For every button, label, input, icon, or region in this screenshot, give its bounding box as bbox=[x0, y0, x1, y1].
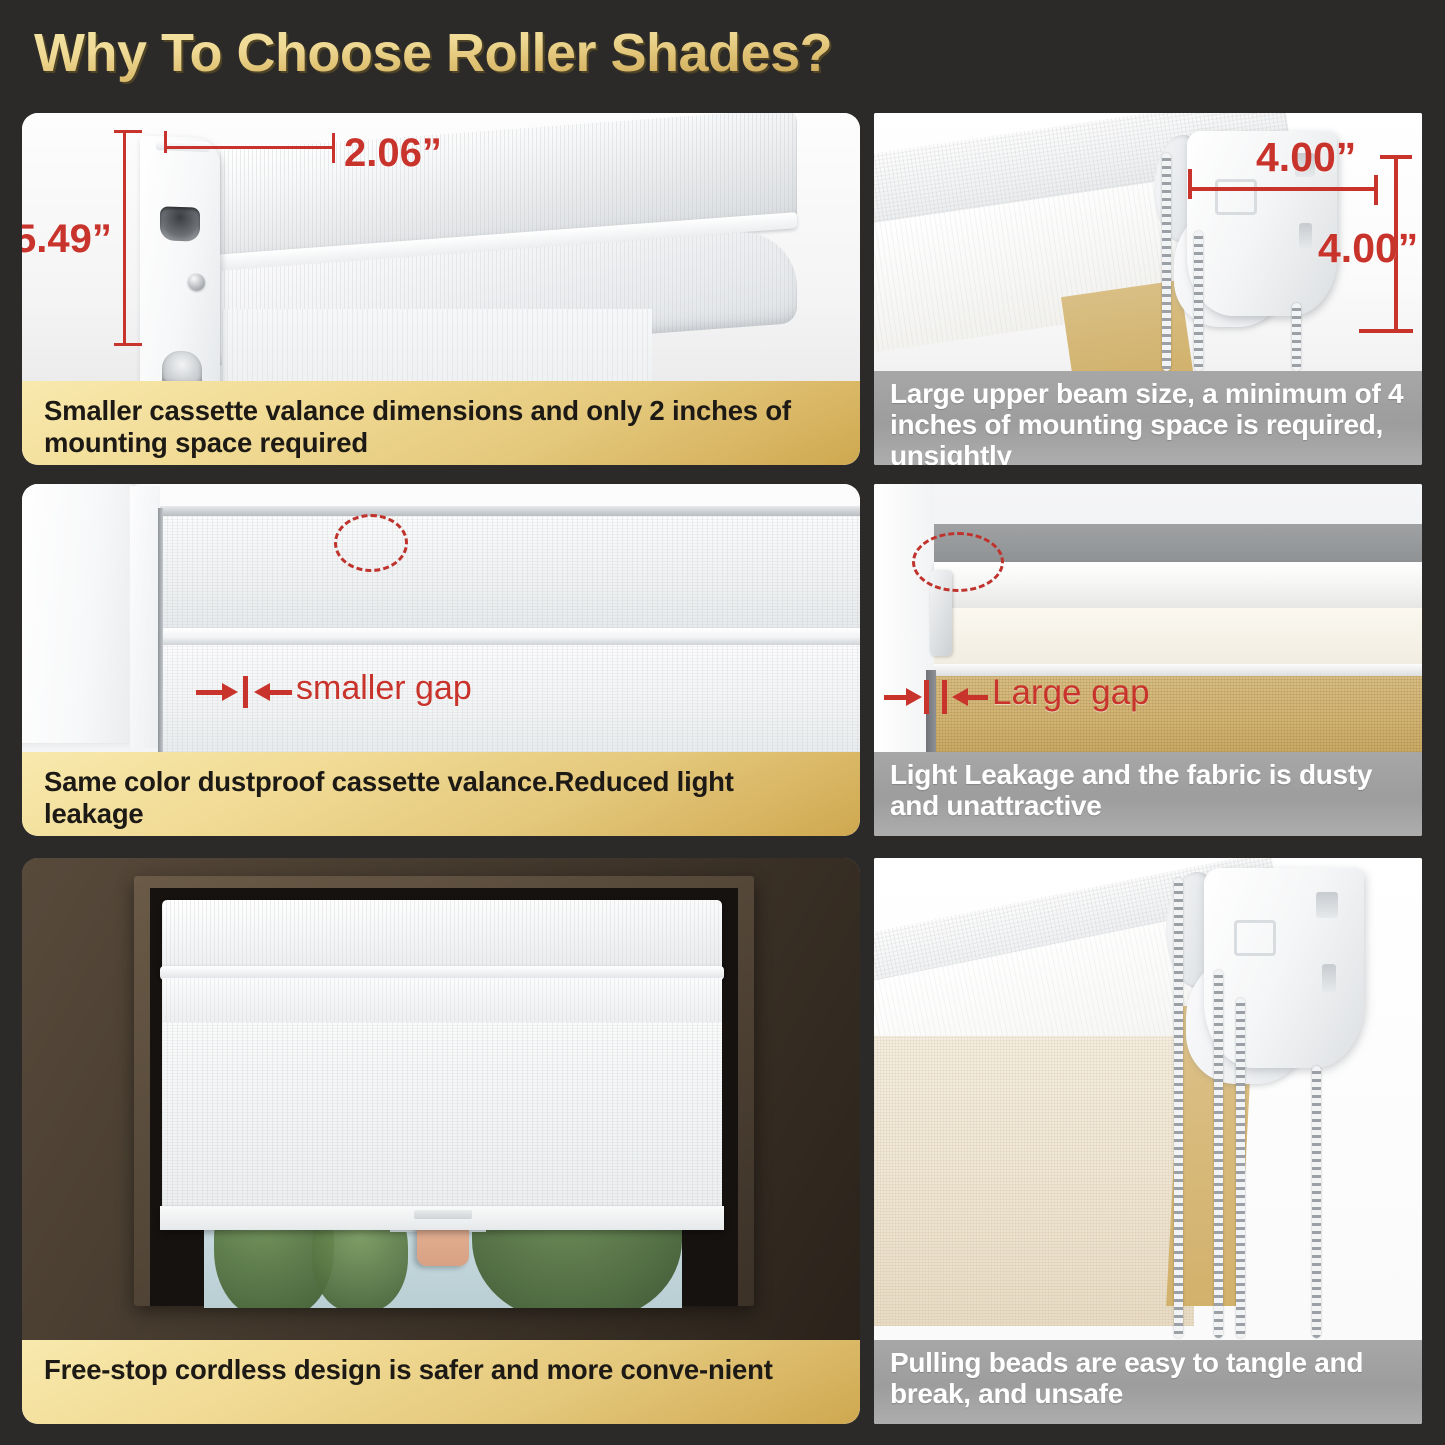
height-dimension-label: 5.49” bbox=[22, 217, 112, 262]
shade-fabric-beige bbox=[874, 1036, 1194, 1326]
shade-pull-tab bbox=[414, 1210, 472, 1219]
panel-caption: Light Leakage and the fabric is dusty an… bbox=[874, 752, 1422, 836]
bead-chain-left bbox=[1162, 153, 1171, 371]
shade-upper-panel bbox=[162, 516, 860, 628]
panel-caption: Free-stop cordless design is safer and m… bbox=[22, 1340, 860, 1424]
panel-pulling-beads: Pulling beads are easy to tangle and bre… bbox=[874, 858, 1422, 1424]
bead-chain-mid bbox=[1214, 970, 1223, 1338]
gap-highlight-circle bbox=[912, 532, 1004, 592]
panel-smaller-gap: smaller gap Same color dustproof cassett… bbox=[22, 484, 860, 836]
infographic-root: Why To Choose Roller Shades? Why To Choo… bbox=[0, 0, 1445, 1445]
gap-label: smaller gap bbox=[296, 669, 472, 708]
gap-arrow-right-shaft bbox=[268, 690, 292, 695]
window-frame-inner bbox=[130, 486, 160, 748]
panel-caption: Large upper beam size, a minimum of 4 in… bbox=[874, 371, 1422, 465]
gap-marker-bar-a bbox=[924, 680, 929, 714]
width-dim-tick-right bbox=[332, 133, 335, 163]
panel-large-beam: 4.00” 4.00” Large upper beam size, a min… bbox=[874, 113, 1422, 465]
beam-height-label: 4.00” bbox=[1318, 225, 1418, 272]
width-dim-line bbox=[164, 146, 334, 149]
bead-chain-mid bbox=[1194, 231, 1203, 371]
panel-caption-text: Same color dustproof cassette valance.Re… bbox=[44, 766, 838, 831]
panel-caption-text: Large upper beam size, a minimum of 4 in… bbox=[890, 379, 1406, 465]
panel-large-gap: Large gap Light Leakage and the fabric i… bbox=[874, 484, 1422, 836]
page-title: Why To Choose Roller Shades? bbox=[34, 22, 832, 84]
gap-arrow-right-shaft bbox=[966, 695, 988, 700]
panel-caption: Pulling beads are easy to tangle and bre… bbox=[874, 1340, 1422, 1424]
height-dim-tick-top bbox=[114, 130, 142, 133]
bracket-slot bbox=[160, 206, 200, 241]
valance-lower bbox=[934, 608, 1422, 668]
panel-caption-text: Free-stop cordless design is safer and m… bbox=[44, 1354, 773, 1386]
shade-valance-top bbox=[162, 900, 722, 972]
bracket-notch-top bbox=[1316, 892, 1338, 918]
valance-fabric bbox=[222, 309, 652, 381]
beam-width-label: 4.00” bbox=[1256, 134, 1356, 181]
panel-caption-text: Pulling beads are easy to tangle and bre… bbox=[890, 1348, 1406, 1410]
panel-caption-text: Light Leakage and the fabric is dusty an… bbox=[890, 760, 1406, 822]
width-dim-tick-left bbox=[164, 131, 167, 153]
width-dimension-label: 2.06” bbox=[344, 131, 442, 176]
panel-cassette-dimensions: 2.06” 5.49” Smaller cassette valance dim… bbox=[22, 113, 860, 465]
large-beam-photo: 4.00” 4.00” bbox=[874, 113, 1422, 371]
large-gap-photo: Large gap bbox=[874, 484, 1422, 752]
bead-chain-right bbox=[1292, 303, 1301, 371]
beam-width-tick-left bbox=[1188, 169, 1192, 199]
shade-fabric-body bbox=[162, 1022, 722, 1218]
height-dim-line bbox=[123, 130, 126, 346]
gap-marker-bar-b bbox=[942, 680, 947, 714]
valance-front bbox=[934, 562, 1422, 614]
bead-chain-right bbox=[1312, 1066, 1321, 1338]
panel-caption: Same color dustproof cassette valance.Re… bbox=[22, 752, 860, 836]
gap-label: Large gap bbox=[992, 673, 1150, 713]
gap-arrow-left-head bbox=[906, 688, 922, 706]
smaller-gap-photo: smaller gap bbox=[22, 484, 860, 752]
bead-chain-mid2 bbox=[1236, 998, 1245, 1338]
room-window-photo bbox=[22, 858, 860, 1340]
shade-mid-rail bbox=[160, 628, 860, 645]
shade-side-edge bbox=[158, 508, 163, 752]
cassette-valance-photo: 2.06” 5.49” bbox=[22, 113, 860, 381]
shade-valance-lower bbox=[162, 978, 722, 1022]
bead-chain-left bbox=[1174, 878, 1183, 1338]
bracket-notch-mid bbox=[1322, 964, 1336, 992]
gap-arrow-left-head bbox=[222, 683, 238, 701]
gap-highlight-circle bbox=[334, 514, 408, 572]
window-frame-outer bbox=[22, 484, 136, 743]
panel-caption-text: Smaller cassette valance dimensions and … bbox=[44, 395, 838, 460]
beam-height-tick-top bbox=[1380, 155, 1412, 159]
beam-width-line bbox=[1188, 187, 1378, 191]
beam-width-tick-right bbox=[1374, 175, 1378, 205]
height-dim-tick-bottom bbox=[114, 343, 142, 346]
end-bracket bbox=[140, 136, 220, 381]
mounting-bracket bbox=[1204, 868, 1364, 1068]
bracket-screw bbox=[188, 273, 205, 291]
panel-caption: Smaller cassette valance dimensions and … bbox=[22, 381, 860, 465]
bracket-notch-mid bbox=[1299, 223, 1312, 249]
shade-head-line bbox=[160, 506, 860, 516]
bracket-embossed-icon bbox=[1215, 179, 1257, 215]
panel-cordless-design: Free-stop cordless design is safer and m… bbox=[22, 858, 860, 1424]
bracket-cam bbox=[162, 350, 202, 381]
pulling-beads-photo bbox=[874, 858, 1422, 1340]
gap-marker-bar bbox=[243, 676, 248, 708]
bracket-embossed-icon-upper bbox=[1234, 920, 1276, 956]
beam-height-tick-bottom bbox=[1359, 329, 1413, 333]
